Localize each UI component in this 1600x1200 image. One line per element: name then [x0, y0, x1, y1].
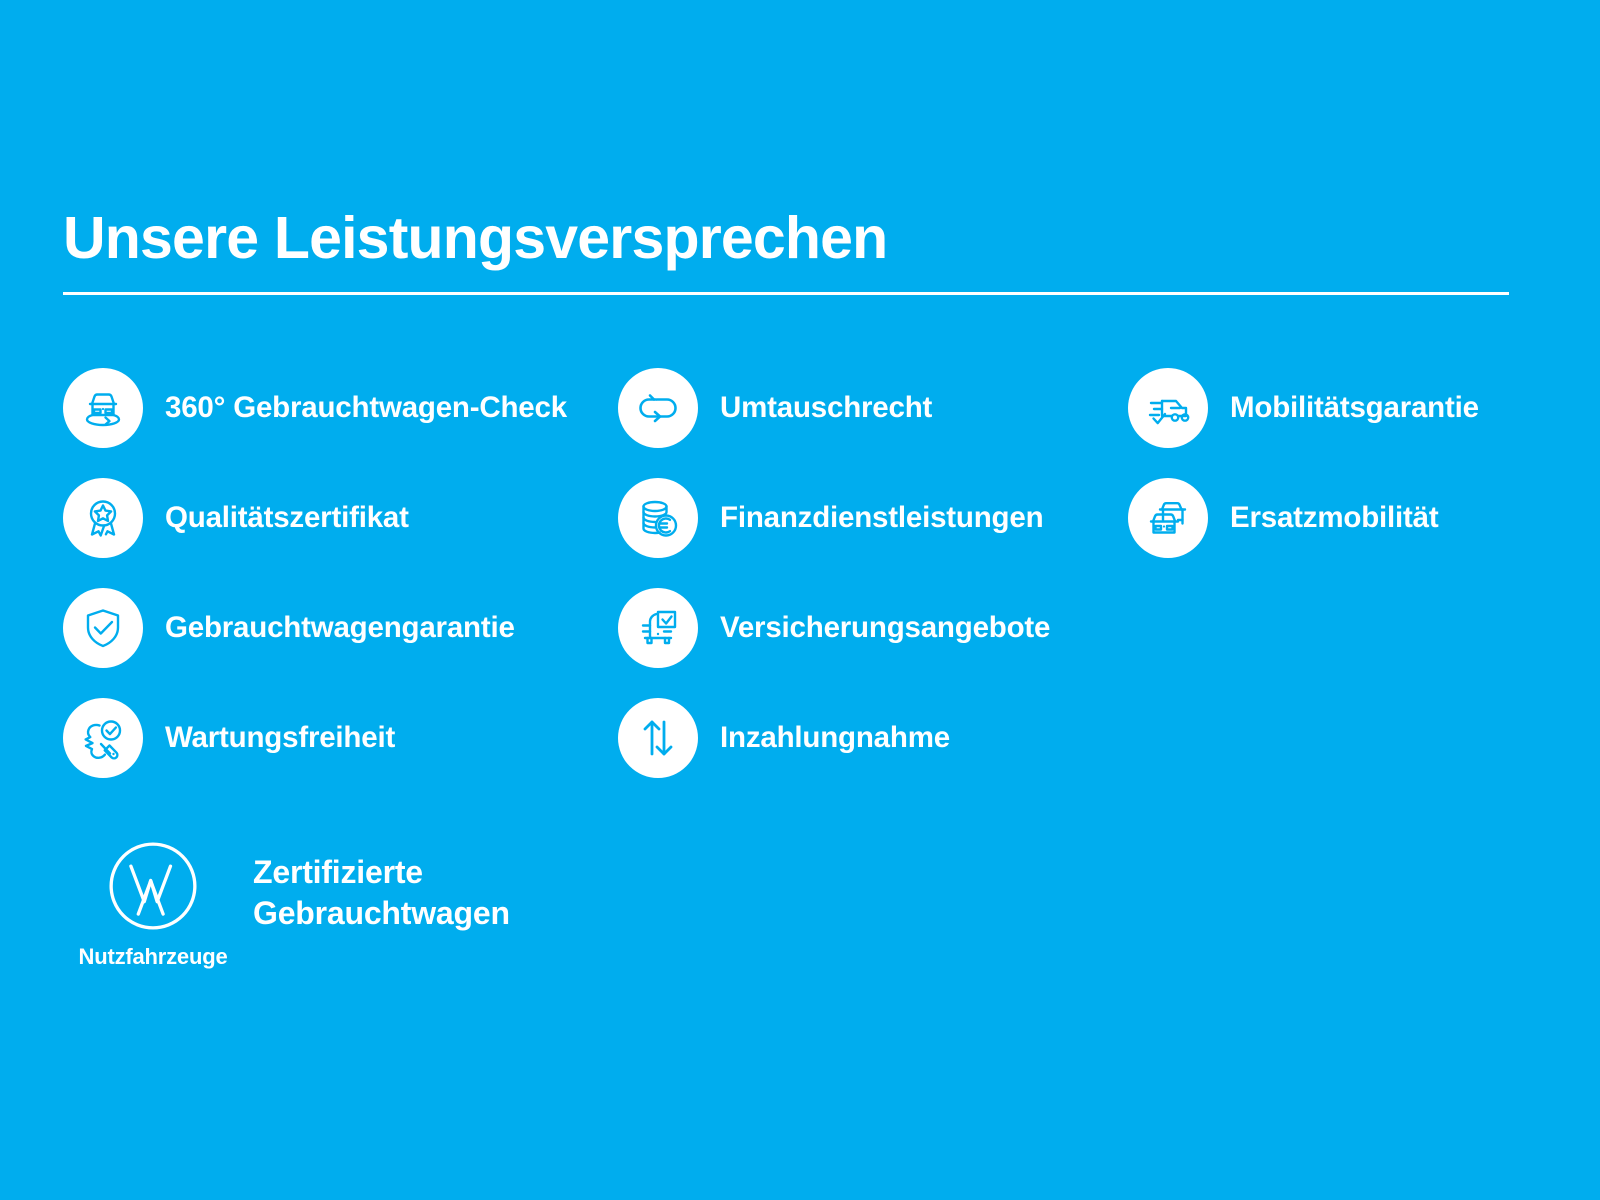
- promise-item-warranty[interactable]: Gebrauchtwagengarantie: [63, 588, 567, 668]
- page-title: Unsere Leistungsversprechen: [63, 208, 1509, 270]
- exchange-arrows-icon: [618, 368, 698, 448]
- promise-label: Inzahlungnahme: [720, 721, 950, 755]
- promise-column-2: Umtauschrecht Finanz: [618, 368, 1050, 808]
- car-360-rotation-icon: [63, 368, 143, 448]
- promise-column-3: Mobilitätsgarantie: [1128, 368, 1479, 588]
- wrench-check-icon: [63, 698, 143, 778]
- promise-item-insurance-offers[interactable]: Versicherungsangebote: [618, 588, 1050, 668]
- promise-item-exchange-right[interactable]: Umtauschrecht: [618, 368, 1050, 448]
- slide-canvas: Unsere Leistungsversprechen: [0, 0, 1600, 1200]
- title-divider: [63, 292, 1509, 295]
- promise-label: Wartungsfreiheit: [165, 721, 395, 755]
- promise-label: 360° Gebrauchtwagen-Check: [165, 391, 567, 425]
- promise-label: Umtauschrecht: [720, 391, 932, 425]
- brand-headline: Zertifizierte Gebrauchtwagen: [253, 852, 510, 934]
- van-speed-check-icon: [1128, 368, 1208, 448]
- promise-label: Gebrauchtwagengarantie: [165, 611, 515, 645]
- promise-item-replacement-mobility[interactable]: Ersatzmobilität: [1128, 478, 1479, 558]
- promise-label: Finanzdienstleistungen: [720, 501, 1043, 535]
- promise-label: Qualitätszertifikat: [165, 501, 409, 535]
- promise-label: Versicherungsangebote: [720, 611, 1050, 645]
- brand-subline: Nutzfahrzeuge: [79, 944, 228, 970]
- coins-euro-icon: [618, 478, 698, 558]
- promise-item-quality-certificate[interactable]: Qualitätszertifikat: [63, 478, 567, 558]
- promise-item-mobility-guarantee[interactable]: Mobilitätsgarantie: [1128, 368, 1479, 448]
- title-block: Unsere Leistungsversprechen: [63, 208, 1509, 295]
- promise-label: Ersatzmobilität: [1230, 501, 1438, 535]
- promise-item-trade-in[interactable]: Inzahlungnahme: [618, 698, 1050, 778]
- promise-column-1: 360° Gebrauchtwagen-Check Qualitätszerti…: [63, 368, 567, 808]
- promise-item-maintenance-free[interactable]: Wartungsfreiheit: [63, 698, 567, 778]
- vw-logo-icon: [107, 840, 199, 932]
- award-rosette-star-icon: [63, 478, 143, 558]
- shield-check-icon: [63, 588, 143, 668]
- promise-label: Mobilitätsgarantie: [1230, 391, 1479, 425]
- two-cars-icon: [1128, 478, 1208, 558]
- brand-logo-wrap: Nutzfahrzeuge: [63, 840, 243, 970]
- van-checkbox-icon: [618, 588, 698, 668]
- brand-headline-line-1: Zertifizierte: [253, 852, 510, 893]
- promise-item-financial-services[interactable]: Finanzdienstleistungen: [618, 478, 1050, 558]
- brand-block: Nutzfahrzeuge Zertifizierte Gebrauchtwag…: [63, 840, 510, 970]
- promise-item-360-check[interactable]: 360° Gebrauchtwagen-Check: [63, 368, 567, 448]
- arrows-up-down-icon: [618, 698, 698, 778]
- brand-headline-line-2: Gebrauchtwagen: [253, 893, 510, 934]
